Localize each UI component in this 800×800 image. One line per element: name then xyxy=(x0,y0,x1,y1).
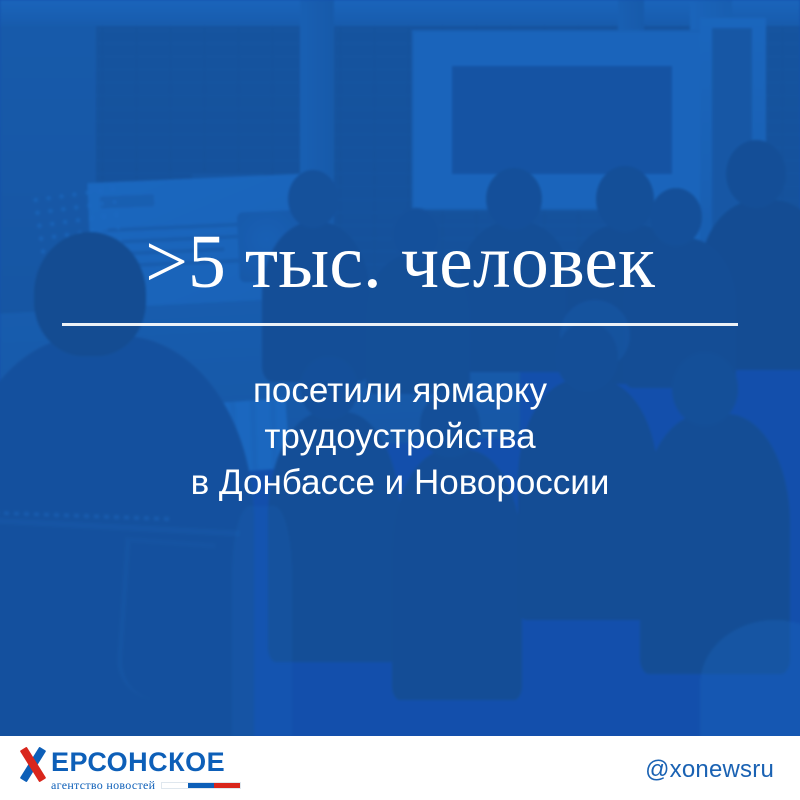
subtitle: посетили ярмарку трудоустройства в Донба… xyxy=(0,368,800,506)
footer-bar: ЕРСОНСКОЕ агентство новостей @xonewsru xyxy=(0,736,800,800)
subtitle-line-2: трудоустройства xyxy=(0,414,800,460)
headline: >5 тыс. человек xyxy=(0,224,800,300)
logo-x-mark-icon xyxy=(16,748,50,780)
brand-name: ЕРСОНСКОЕ xyxy=(51,748,241,777)
russian-flag-bar-icon xyxy=(161,782,241,789)
social-handle[interactable]: @xonewsru xyxy=(645,756,774,784)
brand-logo[interactable]: ЕРСОНСКОЕ агентство новостей xyxy=(16,748,241,793)
flag-stripe-white xyxy=(162,783,188,788)
subtitle-line-1: посетили ярмарку xyxy=(0,368,800,414)
background-photo-area: >5 тыс. человек посетили ярмарку трудоус… xyxy=(0,0,800,736)
flag-stripe-red xyxy=(214,783,240,788)
brand-tagline: агентство новостей xyxy=(51,778,155,793)
brand-tagline-row: агентство новостей xyxy=(51,778,241,793)
flag-stripe-blue xyxy=(188,783,214,788)
social-media-card: >5 тыс. человек посетили ярмарку трудоус… xyxy=(0,0,800,800)
headline-divider xyxy=(62,323,738,326)
brand-logo-text: ЕРСОНСКОЕ агентство новостей xyxy=(51,748,241,793)
subtitle-line-3: в Донбассе и Новороссии xyxy=(0,460,800,506)
